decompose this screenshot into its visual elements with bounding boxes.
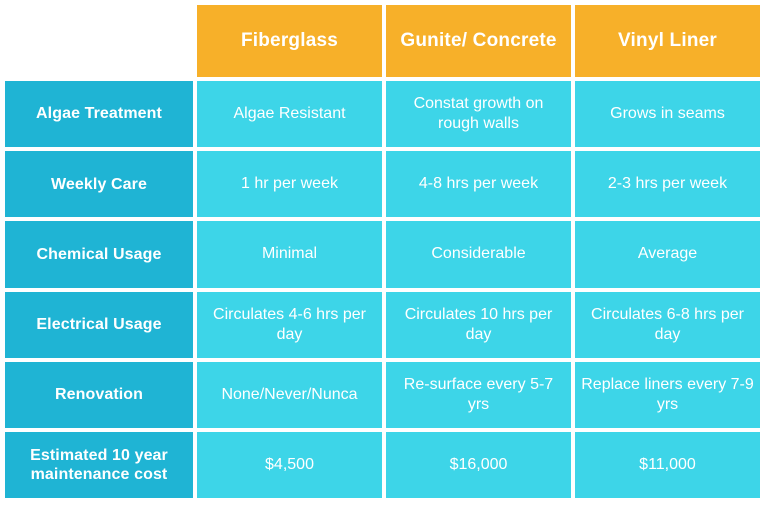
cell-text: Circulates 4-6 hrs per day: [203, 305, 376, 345]
column-header-vinyl-liner: Vinyl Liner: [575, 5, 760, 77]
cell-maintenance-cost-vinyl-liner: $11,000: [575, 432, 760, 498]
table-row: Estimated 10 year maintenance cost $4,50…: [5, 432, 760, 498]
row-label-text: Chemical Usage: [13, 245, 185, 264]
cell-text: Grows in seams: [581, 104, 754, 124]
cell-text: Considerable: [392, 244, 565, 264]
cell-text: Circulates 10 hrs per day: [392, 305, 565, 345]
table-header-row: Fiberglass Gunite/ Concrete Vinyl Liner: [5, 5, 760, 77]
cell-weekly-care-vinyl-liner: 2-3 hrs per week: [575, 151, 760, 217]
row-label-electrical-usage: Electrical Usage: [5, 292, 193, 358]
pool-type-comparison-table: Fiberglass Gunite/ Concrete Vinyl Liner …: [0, 0, 768, 512]
table-row: Chemical Usage Minimal Considerable Aver…: [5, 221, 760, 287]
cell-text: 1 hr per week: [203, 174, 376, 194]
cell-text: 4-8 hrs per week: [392, 174, 565, 194]
row-label-estimated-maintenance-cost: Estimated 10 year maintenance cost: [5, 432, 193, 498]
cell-maintenance-cost-fiberglass: $4,500: [197, 432, 382, 498]
row-label-text: Renovation: [13, 385, 185, 404]
cell-electrical-usage-vinyl-liner: Circulates 6-8 hrs per day: [575, 292, 760, 358]
cell-text: None/Never/Nunca: [203, 385, 376, 405]
cell-text: Re-surface every 5-7 yrs: [392, 375, 565, 415]
column-header-label: Fiberglass: [203, 30, 376, 52]
row-label-algae-treatment: Algae Treatment: [5, 81, 193, 147]
row-label-text: Algae Treatment: [13, 104, 185, 123]
row-label-renovation: Renovation: [5, 362, 193, 428]
column-header-fiberglass: Fiberglass: [197, 5, 382, 77]
cell-text: 2-3 hrs per week: [581, 174, 754, 194]
column-header-label: Vinyl Liner: [581, 30, 754, 52]
table-grid: Fiberglass Gunite/ Concrete Vinyl Liner …: [5, 5, 760, 498]
cell-electrical-usage-gunite-concrete: Circulates 10 hrs per day: [386, 292, 571, 358]
row-label-text: Estimated 10 year maintenance cost: [13, 446, 185, 484]
cell-chemical-usage-gunite-concrete: Considerable: [386, 221, 571, 287]
cell-chemical-usage-vinyl-liner: Average: [575, 221, 760, 287]
cell-renovation-vinyl-liner: Replace liners every 7-9 yrs: [575, 362, 760, 428]
cell-algae-treatment-gunite-concrete: Constat growth on rough walls: [386, 81, 571, 147]
column-header-gunite-concrete: Gunite/ Concrete: [386, 5, 571, 77]
cell-renovation-gunite-concrete: Re-surface every 5-7 yrs: [386, 362, 571, 428]
table-row: Weekly Care 1 hr per week 4-8 hrs per we…: [5, 151, 760, 217]
column-header-label: Gunite/ Concrete: [392, 30, 565, 52]
cell-algae-treatment-fiberglass: Algae Resistant: [197, 81, 382, 147]
row-label-text: Weekly Care: [13, 175, 185, 194]
cell-text: Replace liners every 7-9 yrs: [581, 375, 754, 415]
cell-renovation-fiberglass: None/Never/Nunca: [197, 362, 382, 428]
table-row: Algae Treatment Algae Resistant Constat …: [5, 81, 760, 147]
cell-algae-treatment-vinyl-liner: Grows in seams: [575, 81, 760, 147]
cell-text: Average: [581, 244, 754, 264]
table-corner-cell: [5, 5, 193, 77]
table-row: Electrical Usage Circulates 4-6 hrs per …: [5, 292, 760, 358]
cell-text: $11,000: [581, 455, 754, 475]
cell-chemical-usage-fiberglass: Minimal: [197, 221, 382, 287]
cell-electrical-usage-fiberglass: Circulates 4-6 hrs per day: [197, 292, 382, 358]
cell-text: Algae Resistant: [203, 104, 376, 124]
cell-text: $4,500: [203, 455, 376, 475]
cell-text: Minimal: [203, 244, 376, 264]
cell-weekly-care-fiberglass: 1 hr per week: [197, 151, 382, 217]
row-label-chemical-usage: Chemical Usage: [5, 221, 193, 287]
row-label-weekly-care: Weekly Care: [5, 151, 193, 217]
cell-text: Constat growth on rough walls: [392, 94, 565, 134]
cell-text: $16,000: [392, 455, 565, 475]
cell-weekly-care-gunite-concrete: 4-8 hrs per week: [386, 151, 571, 217]
table-row: Renovation None/Never/Nunca Re-surface e…: [5, 362, 760, 428]
cell-maintenance-cost-gunite-concrete: $16,000: [386, 432, 571, 498]
row-label-text: Electrical Usage: [13, 315, 185, 334]
cell-text: Circulates 6-8 hrs per day: [581, 305, 754, 345]
